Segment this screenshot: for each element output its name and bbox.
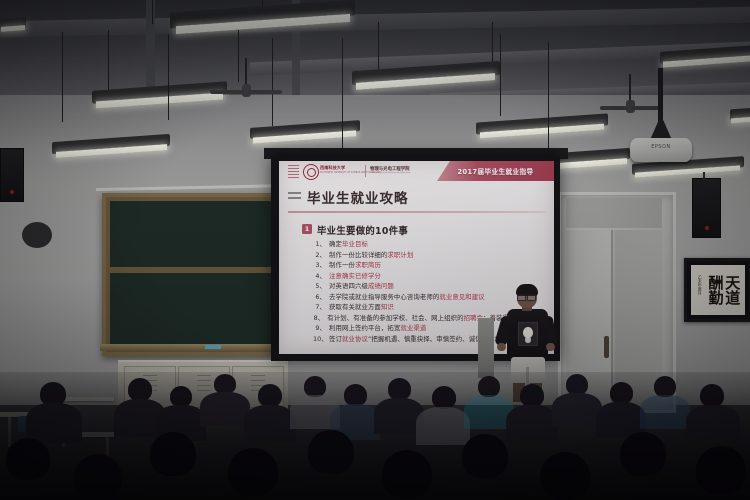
slide-list-item: 3、制作一份求职简历 (313, 262, 548, 268)
slide-list-item-number: 2、 (313, 252, 326, 258)
presenter-hand-right (546, 343, 555, 351)
slide-list-item-text: 对英语四六级成绩问题 (329, 283, 394, 289)
slide-list-item-text: 制作一份求职简历 (329, 262, 381, 268)
audience-head (610, 382, 633, 404)
slide-item-plain: 制作一份比较详细的 (329, 251, 387, 259)
slide-title: 毕业生就业攻略 (307, 187, 409, 207)
slide-list-item-number: 8、 (313, 315, 324, 321)
wall-speaker-right (692, 178, 721, 238)
ceiling-lamp (250, 124, 360, 143)
audience-head (308, 430, 354, 474)
wall-fan-left (22, 222, 52, 248)
audience-head (128, 378, 152, 401)
audience-head (540, 452, 590, 500)
ceiling-fan (600, 100, 660, 114)
university-seal-icon (303, 164, 319, 180)
audience-head (520, 384, 544, 407)
ceiling-lamp (632, 160, 744, 178)
projector-pole (658, 68, 663, 124)
tshirt-graphic (518, 322, 538, 346)
audience-head (150, 432, 196, 476)
audience-body (244, 405, 296, 443)
eraser[interactable] (205, 345, 221, 349)
lamp-wire (492, 22, 493, 66)
slide-list-item-number: 10、 (313, 336, 326, 342)
header-divider (365, 165, 366, 177)
lecture-hall-photo: EPSON 天道 酬勤 乙未年夏月 (0, 0, 750, 500)
audience-head (258, 384, 282, 407)
presenter-hand-left (497, 343, 506, 351)
slide-list-item-number: 9、 (313, 325, 326, 331)
slide-item-plain: 利用网上签约平台，拓宽 (329, 324, 400, 332)
audience-body (26, 403, 82, 443)
lamp-wire (272, 38, 273, 126)
lamp-wire (168, 34, 169, 120)
projector: EPSON (630, 138, 692, 162)
audience-body (506, 405, 558, 443)
calligraphy-frame: 天道 酬勤 乙未年夏月 (684, 258, 750, 322)
slide-list-item-number: 4、 (313, 273, 326, 279)
slide-ribbon-label: 2017届毕业生就业指导 (458, 166, 534, 176)
ceiling-lamp (92, 86, 227, 108)
slide-list-item-text: 去学院或就业指导服务中心咨询老师的就业意见和建议 (329, 294, 485, 300)
slide-item-plain: 制作一份 (329, 261, 355, 269)
section-marker-icon (288, 192, 301, 202)
slide-item-plain: 签订 (329, 335, 342, 343)
slide-list-item-text: 获取有关就业方面知识 (329, 304, 394, 310)
slide-list-item: 4、注意确实已修学分 (313, 273, 548, 279)
slide-item-highlight: 注意确实已修学分 (329, 272, 381, 280)
audience-head (382, 450, 432, 498)
slide-item-plain: 有计划、有准备的参加学校、社会、网上组织的 (327, 314, 463, 322)
slide-item-plain: 去学院或就业指导服务中心咨询老师的 (329, 293, 439, 301)
calligraphy-signature: 乙未年夏月 (697, 275, 703, 295)
chalk-rail (100, 344, 286, 351)
slide-list-item: 1、确定毕业目标 (313, 241, 548, 247)
lamp-wire (152, 0, 153, 24)
audience-head (432, 386, 456, 409)
audience-head (170, 386, 192, 407)
slide-list-item-text: 制作一份比较详细的求职计划 (329, 252, 413, 258)
ceiling-fan (210, 84, 282, 100)
ceiling-lamp (170, 6, 355, 32)
door-transom (566, 198, 662, 228)
audience-head (478, 376, 500, 397)
lamp-wire (548, 42, 549, 152)
ceiling-lamp (0, 18, 26, 34)
audience-head (74, 454, 122, 500)
audience-head (304, 376, 326, 397)
slide-item-highlight: 成绩问题 (368, 282, 394, 290)
audience-head (696, 446, 746, 494)
chalkboard (102, 193, 288, 356)
lamp-wire (238, 30, 239, 82)
audience-head (6, 438, 50, 480)
slide-list-item-text: 利用网上签约平台，拓宽就业渠道 (329, 325, 426, 331)
college-name: 物理与光电工程学院 School of Physics and Optoelec… (370, 166, 417, 174)
slide-subtitle: 毕业生要做的10件事 (317, 223, 408, 237)
slide-item-plain: 对英语四六级 (329, 282, 368, 290)
slide-item-highlight: 求职简历 (355, 261, 381, 269)
calligraphy-col-right: 天道 (724, 275, 740, 305)
lamp-wire (500, 34, 501, 116)
lamp-wire (108, 30, 109, 92)
ceiling-lamp (352, 66, 500, 89)
college-name-en: School of Physics and Optoelectronic Eng… (370, 172, 410, 174)
podium (478, 318, 494, 378)
university-name-en: SOUTHWEST UNIVERSITY OF SCIENCE AND TECH… (320, 171, 358, 174)
audience-body (416, 407, 470, 445)
audience-head (462, 434, 508, 478)
projector-brand-label: EPSON (630, 144, 692, 150)
audience-body (640, 395, 690, 429)
slide-list-item-number: 6、 (313, 294, 326, 300)
lamp-wire (342, 38, 343, 158)
speaker-hanger (703, 172, 705, 180)
audience-head (620, 432, 666, 476)
slide-title-row: 毕业生就业攻略 (279, 186, 554, 208)
slide-list-item-number: 3、 (313, 262, 326, 268)
lamp-wire (62, 32, 63, 122)
audience-head (344, 384, 367, 406)
slide-badge: 1 (302, 224, 312, 234)
door-handle[interactable] (604, 336, 609, 358)
header-bars-icon (288, 165, 299, 179)
slide-item-highlight: 就业渠道 (400, 324, 426, 332)
slide-list-item-number: 1、 (313, 241, 326, 247)
slide-list-item-text: 注意确实已修学分 (329, 273, 381, 279)
slide-item-plain: 获取有关就业方面 (329, 303, 381, 311)
audience-head (388, 378, 411, 400)
audience-head (654, 376, 676, 397)
lamp-wire (378, 22, 379, 70)
ceiling-lamp (52, 138, 170, 158)
ceiling-lamp (730, 108, 750, 126)
slide-list-item-text: 签订就业协议“把握机遇、慎重抉择、审慎签约、诚信为本” (329, 336, 498, 342)
university-name: 西南科技大学 SOUTHWEST UNIVERSITY OF SCIENCE A… (320, 165, 362, 174)
slide-item-highlight: 知识 (381, 303, 394, 311)
audience-body (200, 392, 250, 426)
audience-head (700, 384, 724, 407)
ceiling-lamp (476, 118, 608, 138)
audience-body (686, 405, 740, 443)
calligraphy-col-left: 酬勤 (707, 275, 723, 305)
audience-body (552, 393, 602, 427)
wall-speaker-left (0, 148, 24, 202)
slide-list-item-number: 7、 (313, 304, 326, 310)
glasses-icon (517, 294, 536, 299)
slide-list-item: 2、制作一份比较详细的求职计划 (313, 252, 548, 258)
audience-head (228, 448, 278, 496)
slide-list-item-text: 确定毕业目标 (329, 241, 368, 247)
audience-head (214, 374, 236, 394)
slide-list-item-number: 5、 (313, 283, 326, 289)
slide-item-plain: 确定 (329, 240, 342, 248)
audience (0, 372, 750, 500)
slide-item-highlight: 就业意见和建议 (439, 293, 484, 301)
slide-item-highlight: 毕业目标 (342, 240, 368, 248)
ceiling-column (146, 0, 155, 100)
slide-ribbon: 2017届毕业生就业指导 (437, 161, 554, 181)
ceiling-lamp (660, 48, 750, 68)
slide-item-highlight: 求职计划 (387, 251, 413, 259)
slide-header: 西南科技大学 SOUTHWEST UNIVERSITY OF SCIENCE A… (279, 161, 554, 182)
slide-item-highlight: 就业协议 (342, 335, 368, 343)
audience-head (566, 374, 588, 395)
slide-title-rule (288, 211, 546, 213)
